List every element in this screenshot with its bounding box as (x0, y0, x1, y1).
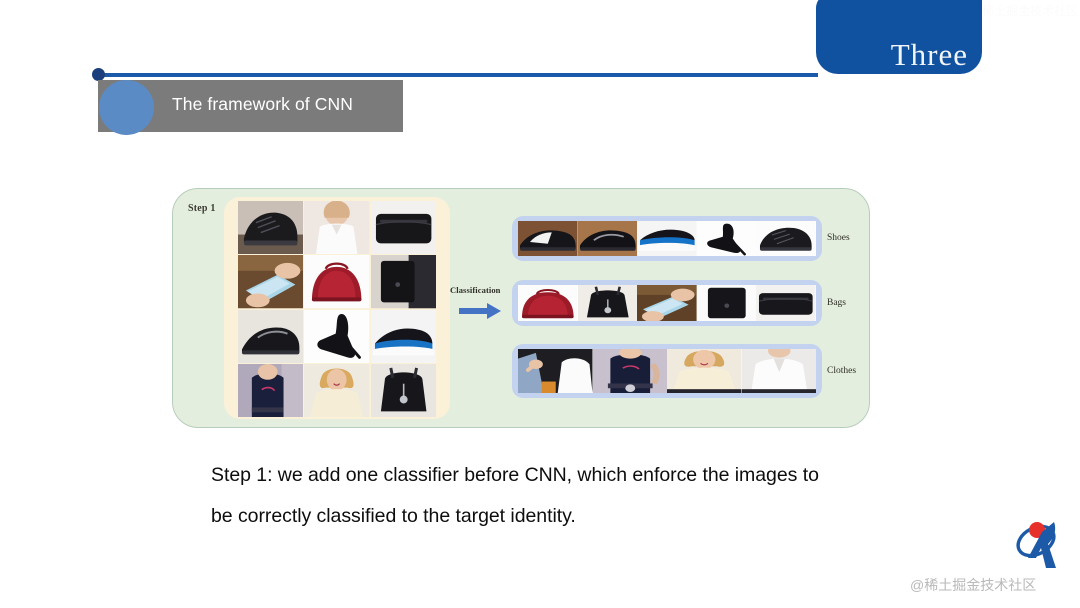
strip-item-black-card-wallet (697, 285, 757, 321)
input-image-collage (224, 197, 450, 419)
collage-cell-black-clutch-bag (371, 201, 436, 254)
collage-grid (238, 201, 436, 417)
corner-watermark-text: 稀土掘金技术社区 (982, 2, 1078, 19)
collage-cell-black-ankle-boot (304, 310, 369, 363)
strip-item-blue-sneaker (637, 221, 697, 256)
collage-cell-black-sneaker (238, 201, 303, 254)
collage-cell-woman-navy-top (238, 364, 303, 417)
category-row-bags (512, 280, 822, 326)
clothes-image-strip (518, 349, 816, 393)
strip-item-man-white-shirt (518, 349, 593, 393)
step-label: Step 1 (188, 203, 216, 214)
classification-arrow-icon (459, 303, 501, 319)
strip-item-black-patent-shoe (578, 221, 638, 256)
category-label-shoes: Shoes (827, 233, 850, 243)
collage-cell-black-backpack (371, 364, 436, 417)
category-row-clothes (512, 344, 822, 398)
subtitle-circle-decoration (99, 80, 154, 135)
strip-item-red-handbag (518, 285, 578, 321)
strip-item-woman-white-blouse (742, 349, 817, 393)
collage-cell-black-wallet (371, 255, 436, 308)
collage-cell-blue-wallet-hands (238, 255, 303, 308)
strip-item-black-white-dress-shoe (518, 221, 578, 256)
header-divider-line (98, 73, 818, 77)
bags-image-strip (518, 285, 816, 321)
classification-label: Classification (450, 285, 501, 295)
category-row-shoes (512, 216, 822, 261)
strip-item-woman-cream-blouse (667, 349, 742, 393)
subtitle-label: The framework of CNN (172, 94, 353, 115)
collage-cell-woman-white-shirt (304, 201, 369, 254)
collage-cell-blue-sneaker (371, 310, 436, 363)
footer-watermark-text: @稀土掘金技术社区 (910, 575, 1036, 595)
strip-item-black-leather-clutch (756, 285, 816, 321)
strip-item-black-hiking-shoe (756, 221, 816, 256)
juejin-logo-icon (1008, 516, 1070, 578)
category-label-clothes: Clothes (827, 366, 856, 376)
collage-cell-red-handbag (304, 255, 369, 308)
strip-item-woman-navy-tank (593, 349, 668, 393)
strip-item-blue-wallet-hands (637, 285, 697, 321)
caption-text: Step 1: we add one classifier before CNN… (211, 455, 831, 537)
section-number-label: Three (891, 39, 968, 70)
collage-cell-woman-cream-sweater (304, 364, 369, 417)
section-number-tab: Three (816, 0, 982, 74)
strip-item-black-stiletto-boot (697, 221, 757, 256)
strip-item-black-backpack (578, 285, 638, 321)
shoes-image-strip (518, 221, 816, 256)
collage-cell-black-dress-shoe (238, 310, 303, 363)
category-label-bags: Bags (827, 298, 846, 308)
